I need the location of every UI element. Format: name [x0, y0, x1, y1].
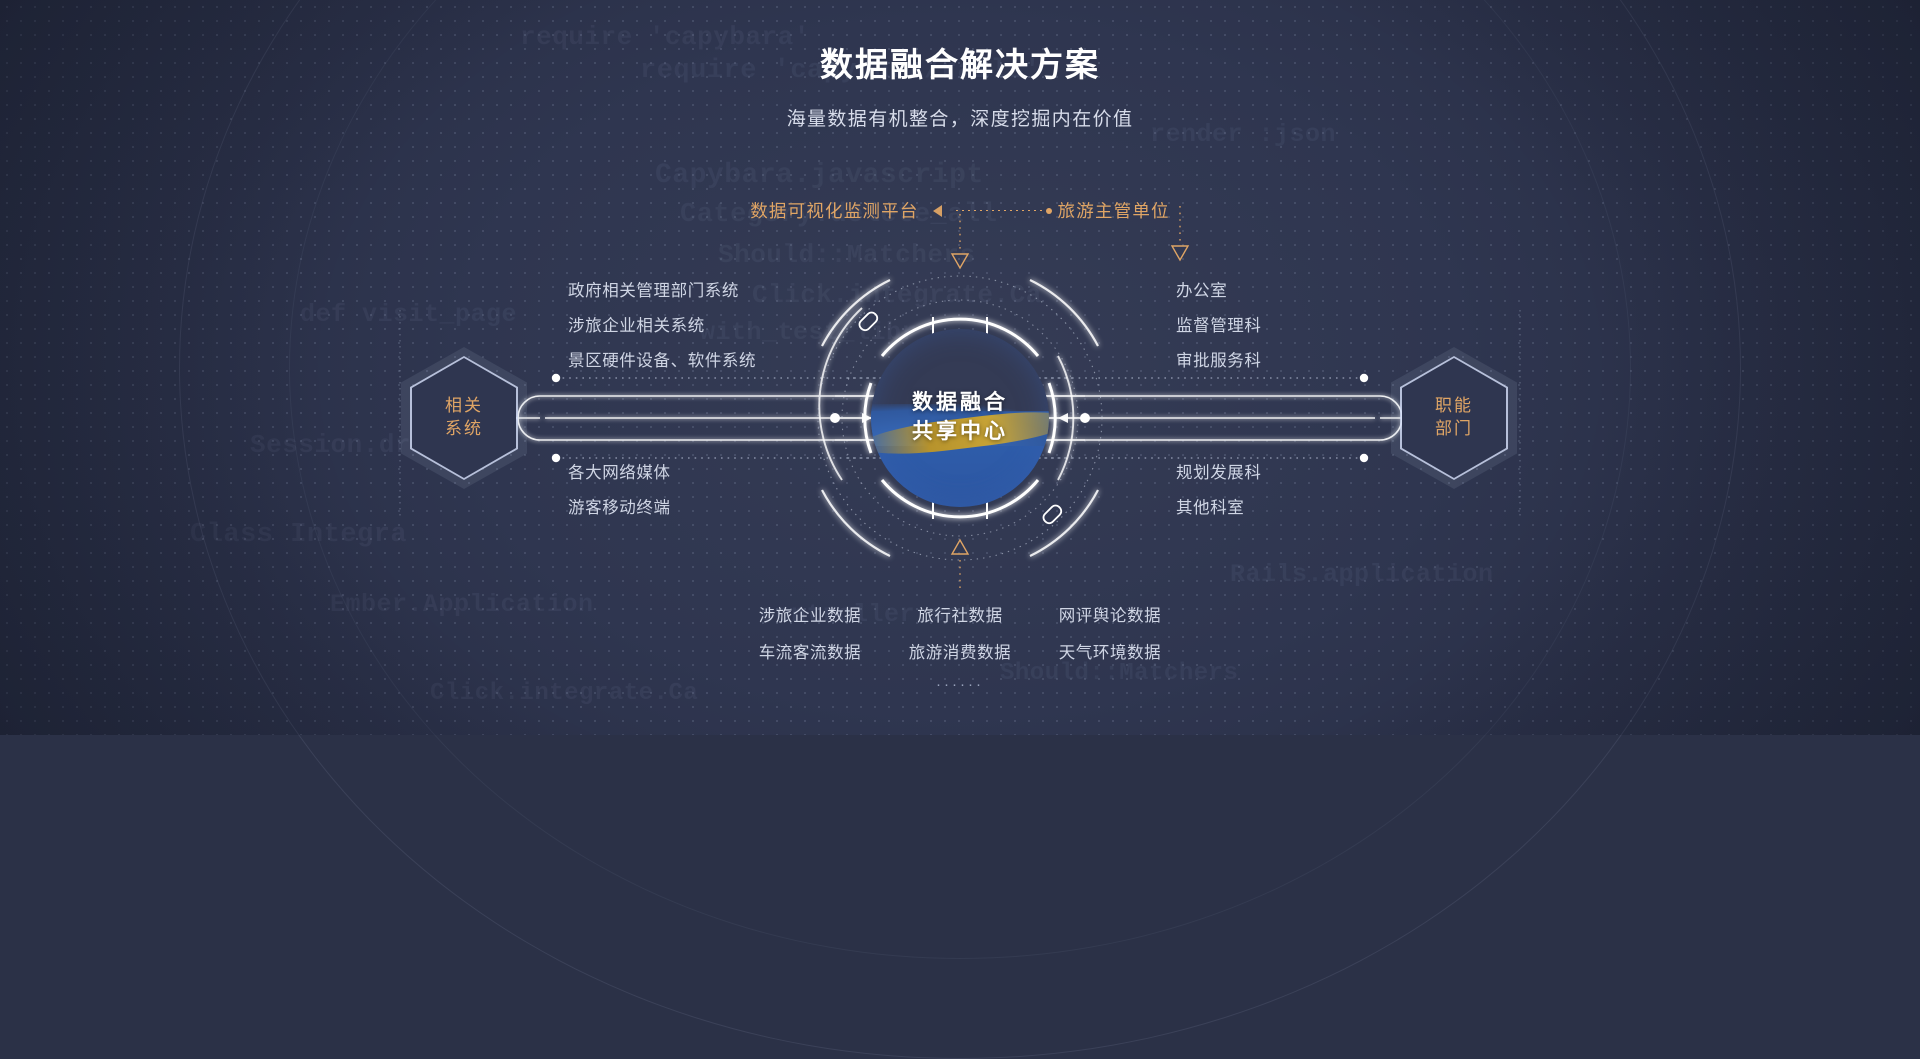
hexagon-label-line1: 职能: [1435, 395, 1473, 418]
hub-label-line1: 数据融合: [912, 389, 1008, 418]
list-item[interactable]: 景区硬件设备、软件系统: [568, 344, 756, 379]
list-item[interactable]: 监督管理科: [1176, 309, 1262, 344]
data-cell[interactable]: 车流客流数据: [735, 635, 885, 672]
data-visualization-platform-label[interactable]: 数据可视化监测平台: [750, 198, 918, 223]
code-line: Capybara.javascript: [655, 160, 984, 191]
bottom-data-sources: 涉旅企业数据 旅行社数据 网评舆论数据 车流客流数据 旅游消费数据 天气环境数据…: [0, 598, 1920, 693]
hub-label-line2: 共享中心: [912, 418, 1008, 447]
data-cell[interactable]: 涉旅企业数据: [735, 598, 885, 635]
list-item[interactable]: 审批服务科: [1176, 344, 1262, 379]
code-line: def visit_page: [300, 300, 517, 329]
tourism-authority-label[interactable]: 旅游主管单位: [1058, 198, 1170, 223]
hexagon-label-line2: 系统: [445, 418, 483, 441]
hexagon-functional-departments[interactable]: 职能 部门: [1400, 356, 1508, 480]
data-cell[interactable]: 旅游消费数据: [885, 635, 1035, 672]
list-item[interactable]: 其他科室: [1176, 491, 1262, 526]
list-item[interactable]: 政府相关管理部门系统: [568, 274, 756, 309]
page-subtitle: 海量数据有机整合，深度挖掘内在价值: [0, 104, 1920, 131]
left-lower-sources: 各大网络媒体 游客移动终端: [568, 456, 671, 526]
bottom-row-2: 车流客流数据 旅游消费数据 天气环境数据: [0, 635, 1920, 672]
center-hub: 数据融合 共享中心: [770, 228, 1150, 608]
list-item[interactable]: 游客移动终端: [568, 491, 671, 526]
list-item[interactable]: 各大网络媒体: [568, 456, 671, 491]
code-line: Rails.application: [1230, 560, 1494, 589]
hexagon-label: 相关 系统: [410, 356, 518, 480]
hexagon-related-systems[interactable]: 相关 系统: [410, 356, 518, 480]
list-item[interactable]: 涉旅企业相关系统: [568, 309, 756, 344]
data-cell[interactable]: 网评舆论数据: [1035, 598, 1185, 635]
list-item[interactable]: 办公室: [1176, 274, 1262, 309]
right-lower-departments: 规划发展科 其他科室: [1176, 456, 1262, 526]
list-item[interactable]: 规划发展科: [1176, 456, 1262, 491]
bottom-row-1: 涉旅企业数据 旅行社数据 网评舆论数据: [0, 598, 1920, 635]
data-cell[interactable]: 天气环境数据: [1035, 635, 1185, 672]
left-upper-sources: 政府相关管理部门系统 涉旅企业相关系统 景区硬件设备、软件系统: [568, 274, 756, 379]
hexagon-label: 职能 部门: [1400, 356, 1508, 480]
data-cell[interactable]: 旅行社数据: [885, 598, 1035, 635]
right-upper-departments: 办公室 监督管理科 审批服务科: [1176, 274, 1262, 379]
arrow-left-icon: [933, 205, 942, 217]
dotted-connector: [956, 210, 1044, 211]
more-indicator: ······: [0, 676, 1920, 693]
code-line: Class Integra: [190, 520, 407, 550]
hub-label: 数据融合 共享中心: [912, 389, 1008, 447]
hexagon-label-line1: 相关: [445, 395, 483, 418]
hexagon-label-line2: 部门: [1435, 418, 1473, 441]
page-title: 数据融合解决方案: [0, 38, 1920, 86]
top-flow-row: 数据可视化监测平台 旅游主管单位: [0, 198, 1920, 223]
